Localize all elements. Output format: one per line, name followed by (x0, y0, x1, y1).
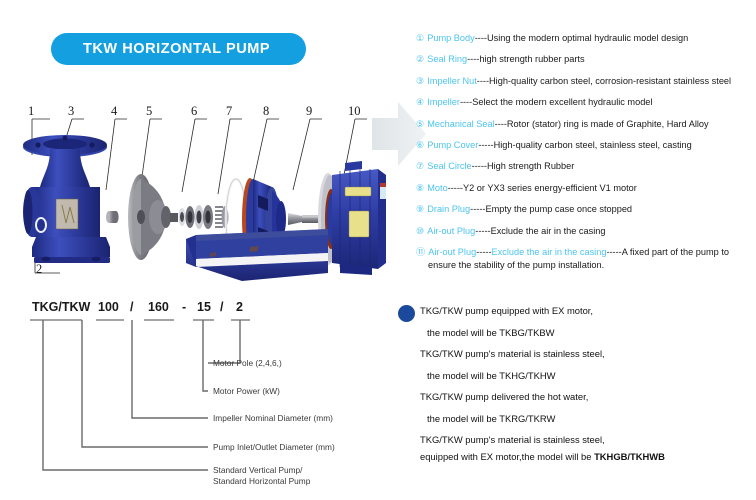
item-name: Air-out Plug (428, 247, 476, 258)
designation-label-inlet-outlet-diameter: Pump Inlet/Outlet Diameter (mm) (213, 442, 335, 452)
item-name: Impeller Nut (427, 76, 477, 87)
svg-text:2: 2 (36, 262, 42, 276)
item-number: ⑩ (416, 226, 424, 237)
svg-text:3: 3 (68, 104, 74, 118)
svg-text:5: 5 (146, 104, 152, 118)
impeller-part (128, 174, 171, 260)
item-dash: ----- (475, 226, 490, 237)
model-designation-diagram: TKG/TKW 100 / 160 - 15 / 2 (10, 295, 395, 495)
pump-spec-sheet: TKW HORIZONTAL PUMP (0, 0, 756, 500)
note-line: TKG/TKW pump's material is stainless ste… (420, 348, 750, 360)
designation-label-motor-pole: Motor Pole (2,4,6,) (213, 358, 282, 368)
item-description: Using the modern optimal hydraulic model… (487, 33, 688, 44)
designation-label-standard-horizontal: Standard Horizontal Pump (213, 476, 311, 486)
item-description: High strength Rubber (487, 161, 574, 172)
item-name: Mechanical Seal (427, 119, 494, 130)
item-description-tail: -----A fixed part of the pump to (606, 247, 729, 258)
item-dash: ----- (472, 161, 487, 172)
item-dash: ---- (467, 54, 479, 65)
impeller-nut-part (106, 211, 119, 223)
svg-text:9: 9 (306, 104, 312, 118)
parts-list-item: ② Seal Ring ---- high strength rubber pa… (416, 54, 756, 65)
item-name: Drain Plug (427, 204, 470, 215)
item-number: ⑧ (416, 183, 424, 194)
exploded-pump-diagram: 1 3 4 5 6 7 8 9 10 2 11 (10, 95, 390, 290)
designation-code-inlet: 100 (98, 300, 119, 314)
designation-label-impeller-diameter: Impeller Nominal Diameter (mm) (213, 413, 333, 423)
designation-code-pole: 2 (236, 300, 243, 314)
svg-text:1: 1 (28, 104, 34, 118)
item-number: ⑤ (416, 119, 424, 130)
svg-text:10: 10 (348, 104, 361, 118)
designation-code-slash1: / (130, 300, 134, 314)
note-line: the model will be TKBG/TKBW (420, 327, 750, 339)
item-number: ④ (416, 97, 424, 108)
note-line: the model will be TKRG/TKRW (420, 413, 750, 425)
item-description: Y2 or YX3 series energy-efficient V1 mot… (463, 183, 637, 194)
page-title: TKW HORIZONTAL PUMP (51, 41, 270, 57)
item-dash: ----- (478, 140, 493, 151)
item-description: Select the modern excellent hydraulic mo… (472, 97, 652, 108)
parts-list-item: ⑧ Moto ----- Y2 or YX3 series energy-eff… (416, 183, 756, 194)
item-number: ⑨ (416, 204, 424, 215)
item-number: ② (416, 54, 424, 65)
item-description: Rotor (stator) ring is made of Graphite,… (507, 119, 709, 130)
item-name: Air-out Plug (427, 226, 475, 237)
note-line: TKG/TKW pump delivered the hot water, (420, 391, 750, 403)
item-description: High-quality carbon steel, corrosion-res… (489, 76, 731, 87)
designation-code-prefix: TKG/TKW (32, 300, 91, 314)
parts-list-item: ⑩ Air-out Plug ----- Exclude the air in … (416, 226, 756, 237)
note-line: the model will be TKHG/TKHW (420, 370, 750, 382)
svg-text:8: 8 (263, 104, 269, 118)
parts-list-item: ⑦ Seal Circle ----- High strength Rubber (416, 161, 756, 172)
designation-code-slash2: / (220, 300, 224, 314)
item-dash: ---- (475, 33, 487, 44)
item-number: ⑪ (416, 247, 425, 258)
parts-list-item: ③ Impeller Nut ---- High-quality carbon … (416, 76, 756, 87)
base-plate-part (186, 229, 328, 281)
designation-code-impeller: 160 (148, 300, 169, 314)
motor-part (318, 161, 386, 275)
parts-list-item: ⑨ Drain Plug ----- Empty the pump case o… (416, 204, 756, 215)
designation-label-motor-power: Motor Power (kW) (213, 386, 280, 396)
item-number: ① (416, 33, 424, 44)
designation-code-power: 15 (197, 300, 211, 314)
mechanical-seal-part (170, 205, 229, 229)
svg-text:6: 6 (191, 104, 197, 118)
item-description: Empty the pump case once stopped (485, 204, 632, 215)
designation-leader-lines (43, 320, 240, 470)
item-dash: ---- (460, 97, 472, 108)
model-notes: TKG/TKW pump equipped with EX motor, the… (420, 305, 750, 473)
item-name: Pump Cover (427, 140, 478, 151)
parts-list-item: ⑥ Pump Cover ----- High-quality carbon s… (416, 140, 756, 151)
item-name: Seal Ring (427, 54, 467, 65)
pump-body-part (23, 135, 110, 263)
item-description-continuation: ensure the stability of the pump install… (416, 260, 754, 271)
item-name: Moto (427, 183, 447, 194)
note-line-last: equipped with EX motor,the model will be… (420, 451, 750, 463)
note-line: TKG/TKW pump's material is stainless ste… (420, 434, 750, 446)
parts-list-item: ④ Impeller ---- Select the modern excell… (416, 97, 756, 108)
item-description: high strength rubber parts (479, 54, 584, 65)
svg-text:4: 4 (111, 104, 118, 118)
parts-list-item: ⑤ Mechanical Seal ---- Rotor (stator) ri… (416, 119, 756, 130)
item-dash: ----- (476, 247, 491, 258)
note-line: TKG/TKW pump equipped with EX motor, (420, 305, 750, 317)
parts-list-item: ⑪ Air-out Plug ----- Exclude the air in … (416, 247, 754, 271)
item-description: Exclude the air in the casing (492, 247, 607, 258)
item-number: ⑥ (416, 140, 424, 151)
item-number: ⑦ (416, 161, 424, 172)
item-dash: ----- (448, 183, 463, 194)
designation-code-dash: - (182, 300, 186, 314)
svg-text:7: 7 (226, 104, 232, 118)
item-description: High-quality carbon steel, stainless ste… (494, 140, 692, 151)
note-last-model: TKHGB/TKHWB (594, 451, 665, 462)
item-number: ③ (416, 76, 424, 87)
designation-label-standard-vertical: Standard Vertical Pump/ (213, 465, 303, 475)
item-name: Seal Circle (427, 161, 471, 172)
note-last-prefix: equipped with EX motor,the model will be (420, 451, 594, 462)
item-dash: ---- (495, 119, 507, 130)
item-name: Pump Body (427, 33, 475, 44)
note-bullet-icon (398, 305, 415, 322)
parts-list-item: ① Pump Body ---- Using the modern optima… (416, 33, 756, 44)
item-dash: ---- (477, 76, 489, 87)
item-description: Exclude the air in the casing (491, 226, 606, 237)
parts-list: ① Pump Body ---- Using the modern optima… (416, 33, 756, 281)
item-dash: ----- (470, 204, 485, 215)
title-banner: TKW HORIZONTAL PUMP (51, 33, 306, 65)
item-name: Impeller (427, 97, 460, 108)
